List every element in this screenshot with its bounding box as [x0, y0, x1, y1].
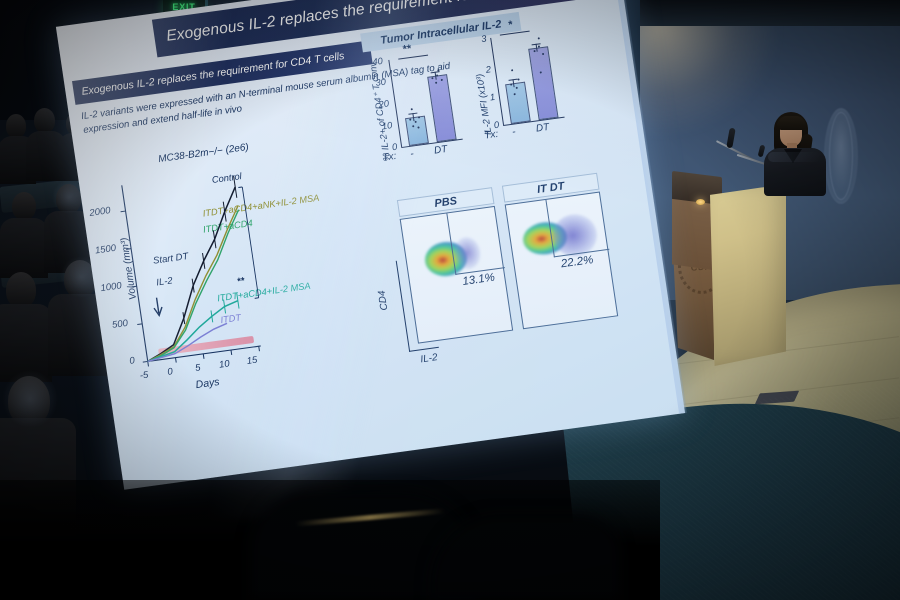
bar1-x-axis-label: Tx:	[382, 151, 397, 164]
flow-gate-percent-pbs: 13.1%	[462, 272, 496, 288]
flow-y-axis-label: CD4	[376, 290, 390, 311]
bar1-significance: **	[402, 43, 412, 56]
flow-gate-itdt	[545, 192, 609, 257]
il2-positive-bar-chart: % IL-2+ of CD4⁺ T conv 0 10 20 30 40	[363, 42, 476, 176]
audience-member	[6, 272, 36, 308]
flow-label-pbs: PBS	[434, 195, 458, 210]
bar1-category: DT	[433, 144, 448, 157]
tumor-growth-chart: MC38-B2m−/− (2e6) Volume (mm³) Days 0 50…	[92, 129, 378, 420]
bar2-y-tick: 3	[481, 34, 488, 45]
podium-reading-lamp	[696, 199, 705, 205]
flow-gate-pbs	[446, 207, 505, 275]
bar2-x-axis-label: Tx:	[484, 129, 499, 142]
flow-x-axis-label: IL-2	[420, 352, 439, 365]
auditorium-photo: EXIT CSH	[0, 0, 900, 600]
wall-sconce-light	[824, 108, 858, 204]
bar2-y-tick: 1	[489, 92, 496, 103]
bar2-category: DT	[535, 122, 550, 135]
bar1-y-tick: 30	[375, 77, 387, 88]
wall-wash-light	[628, 14, 778, 134]
bar1-y-tick: 20	[378, 98, 390, 109]
bar1-y-tick: 40	[372, 56, 384, 67]
bar2-y-tick: 2	[485, 64, 492, 75]
audience-member	[6, 114, 26, 138]
audience-member	[0, 218, 48, 278]
foreground-silhouette	[430, 514, 620, 600]
ceiling-strip	[612, 0, 900, 26]
speaker-shoulder-highlight	[768, 152, 820, 162]
bar2-control	[505, 82, 531, 124]
flow-label-itdt: IT DT	[536, 180, 565, 196]
bar1-y-tick: 10	[381, 120, 393, 131]
bar2-category: -	[511, 126, 516, 137]
tumor-growth-plot-svg	[92, 129, 373, 390]
speaker-hair-front	[777, 116, 806, 130]
audience-member	[12, 192, 36, 220]
bar2-dt	[528, 46, 558, 120]
il2-mfi-bar-chart: IL-2 MFI (x10³) 0 1 2 3	[465, 20, 578, 154]
bar2-y-axis-label: IL-2 MFI (x10³)	[473, 73, 493, 136]
flow-gate-percent-itdt: 22.2%	[560, 254, 594, 270]
audience-rim-light	[2, 370, 58, 428]
presentation-slide: Exogenous IL-2 replaces the requirement …	[56, 0, 685, 490]
flow-plot-pbs: 13.1%	[400, 206, 514, 344]
bar1-dt	[427, 74, 456, 142]
bar1-category: -	[410, 149, 415, 160]
audience-member	[34, 108, 55, 133]
flow-cytometry-panels: PBS 13.1% IT DT 22.	[375, 169, 650, 391]
podium: CSH	[672, 174, 788, 370]
projection-screen: Exogenous IL-2 replaces the requirement …	[56, 0, 690, 521]
speaker-presenter	[762, 112, 828, 194]
flow-plot-itdt: 22.2%	[505, 192, 619, 330]
podium-front-panel	[710, 184, 786, 366]
